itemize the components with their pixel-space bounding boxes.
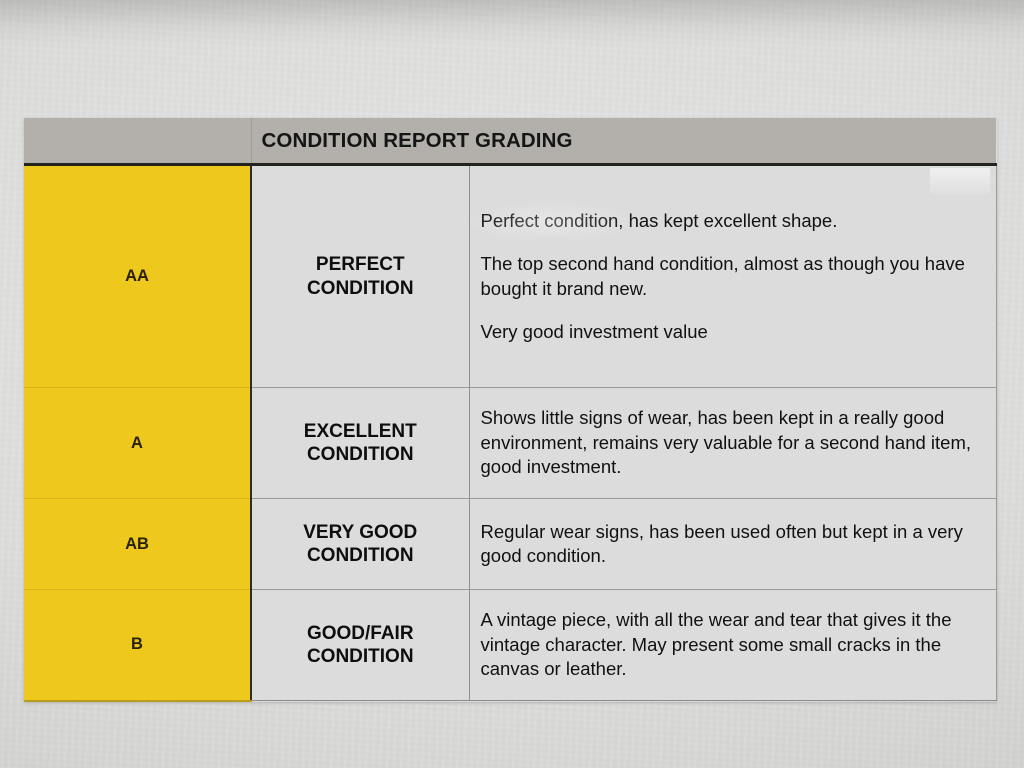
description-paragraph: Very good investment value xyxy=(481,320,982,344)
grade-name-line2: CONDITION xyxy=(307,444,414,465)
table-row: A EXCELLENT CONDITION Shows little signs… xyxy=(24,388,996,499)
description-paragraph: Regular wear signs, has been used often … xyxy=(481,520,982,569)
grade-name-aa: PERFECT CONDITION xyxy=(251,165,469,388)
grade-name-line1: GOOD/FAIR xyxy=(307,623,414,644)
grade-description-a: Shows little signs of wear, has been kep… xyxy=(469,388,996,499)
grade-description-ab: Regular wear signs, has been used often … xyxy=(469,499,996,590)
grade-name-line1: EXCELLENT xyxy=(304,421,417,442)
grade-code-b: B xyxy=(24,590,251,701)
grade-description-aa: Perfect condition, has kept excellent sh… xyxy=(469,165,996,388)
grade-code-a: A xyxy=(24,388,251,499)
grade-name-line1: VERY GOOD xyxy=(303,522,417,543)
grade-code-aa: AA xyxy=(24,165,251,388)
table-row: AB VERY GOOD CONDITION Regular wear sign… xyxy=(24,499,996,590)
description-paragraph: Perfect condition, has kept excellent sh… xyxy=(481,209,982,233)
condition-report-grading-table: CONDITION REPORT GRADING AA PERFECT COND… xyxy=(24,118,997,702)
grade-name-line2: CONDITION xyxy=(307,278,414,299)
grade-name-line2: CONDITION xyxy=(307,545,414,566)
description-paragraph: A vintage piece, with all the wear and t… xyxy=(481,608,982,681)
grade-code-ab: AB xyxy=(24,499,251,590)
header-spacer-cell xyxy=(24,118,251,165)
page-title: CONDITION REPORT GRADING xyxy=(262,129,573,152)
table-row: AA PERFECT CONDITION Perfect condition, … xyxy=(24,165,996,388)
grade-name-ab: VERY GOOD CONDITION xyxy=(251,499,469,590)
table-row: B GOOD/FAIR CONDITION A vintage piece, w… xyxy=(24,590,996,701)
grade-name-a: EXCELLENT CONDITION xyxy=(251,388,469,499)
description-paragraph: Shows little signs of wear, has been kep… xyxy=(481,406,982,479)
table-header-row: CONDITION REPORT GRADING xyxy=(24,118,996,165)
grade-name-b: GOOD/FAIR CONDITION xyxy=(251,590,469,701)
description-paragraph: The top second hand condition, almost as… xyxy=(481,252,982,301)
grade-description-b: A vintage piece, with all the wear and t… xyxy=(469,590,996,701)
header-title-cell: CONDITION REPORT GRADING xyxy=(251,118,996,165)
grade-name-line2: CONDITION xyxy=(307,646,414,667)
grade-name-line1: PERFECT xyxy=(316,254,405,275)
